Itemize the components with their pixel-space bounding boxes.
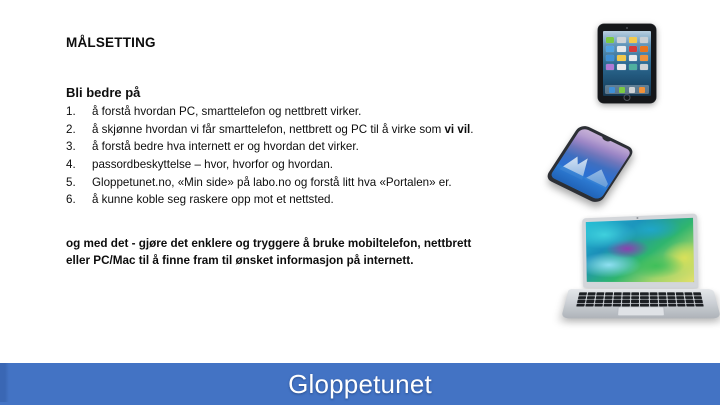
laptop-key [576, 303, 585, 306]
list-item-text-plain: å skjønne hvordan vi får smarttelefon, n… [92, 123, 444, 136]
list-item-number: 2. [66, 121, 92, 139]
list-item: 4. passordbeskyttelse – hvor, hvorfor og… [66, 156, 536, 174]
laptop-key [677, 303, 686, 306]
laptop-trackpad [617, 307, 665, 317]
laptop-key [686, 303, 695, 306]
laptop-key [658, 292, 666, 295]
list-item-number: 6. [66, 191, 92, 209]
list-item-text: å kunne koble seg raskere opp mot et net… [92, 191, 536, 209]
list-item-text: passordbeskyttelse – hvor, hvorfor og hv… [92, 156, 536, 174]
tablet-photo [598, 24, 656, 103]
laptop-key [577, 300, 586, 303]
list-item: 3. å forstå bedre hva internett er og hv… [66, 138, 536, 156]
laptop-key [668, 303, 676, 306]
closing-paragraph: og med det - gjøre det enklere og trygge… [66, 235, 536, 270]
laptop-key [667, 292, 675, 295]
tablet-dock [605, 85, 649, 94]
tablet-app-icon [617, 37, 625, 43]
laptop-key [596, 292, 604, 295]
laptop-key [684, 292, 692, 295]
laptop-key [649, 292, 657, 295]
list-item-number: 3. [66, 138, 92, 156]
list-item: 5. Gloppetunet.no, «Min side» på labo.no… [66, 174, 536, 192]
list-item-text: å skjønne hvordan vi får smarttelefon, n… [92, 121, 536, 139]
tablet-app-icon [617, 46, 625, 52]
laptop-key [658, 300, 666, 303]
tablet-app-icon [629, 55, 637, 61]
laptop-key [596, 296, 604, 299]
laptop-key [694, 300, 703, 303]
closing-line-1: og med det - gjøre det enklere og trygge… [66, 235, 536, 252]
tablet-dock-icon [639, 87, 645, 93]
tablet-dock-icon [629, 87, 635, 93]
laptop-key [614, 292, 622, 295]
tablet-app-grid [606, 37, 648, 70]
laptop-key [623, 292, 631, 295]
tablet-app-icon [640, 64, 648, 70]
list-item-text-tail: . [470, 123, 473, 136]
laptop-key [685, 296, 693, 299]
laptop-photo [565, 216, 717, 328]
laptop-key [595, 303, 604, 306]
laptop-key [676, 296, 684, 299]
list-item-number: 4. [66, 156, 92, 174]
presentation-slide: MÅLSETTING Bli bedre på 1. å forstå hvor… [0, 0, 720, 405]
laptop-key [640, 300, 648, 303]
footer-banner-label: Gloppetunet [288, 369, 432, 400]
page-title: MÅLSETTING [66, 36, 536, 51]
tablet-app-icon [606, 37, 614, 43]
tablet-dock-icon [619, 87, 625, 93]
laptop-key [649, 300, 657, 303]
smartphone-screen [549, 126, 631, 200]
laptop-key [613, 300, 621, 303]
laptop-key [579, 292, 587, 295]
list-item-number: 5. [66, 174, 92, 192]
tablet-app-icon [640, 46, 648, 52]
laptop-key [640, 296, 648, 299]
list-item-text: å forstå bedre hva internett er og hvord… [92, 138, 536, 156]
laptop-key [622, 300, 630, 303]
smartphone-photo [556, 129, 636, 201]
laptop-key [631, 300, 639, 303]
tablet-app-icon [606, 55, 614, 61]
laptop-key [649, 296, 657, 299]
laptop-key [578, 296, 587, 299]
tablet-app-icon [617, 64, 625, 70]
list-item-number: 1. [66, 103, 92, 121]
tablet-app-icon [606, 64, 614, 70]
laptop-key [632, 292, 640, 295]
laptop-key [693, 292, 701, 295]
list-item-text: Gloppetunet.no, «Min side» på labo.no og… [92, 174, 536, 192]
laptop-key [587, 296, 595, 299]
tablet-screen [603, 31, 651, 96]
tablet-app-icon [629, 46, 637, 52]
laptop-key [614, 296, 622, 299]
list-item: 6. å kunne koble seg raskere opp mot et … [66, 191, 536, 209]
tablet-app-icon [617, 55, 625, 61]
laptop-screen [586, 218, 694, 282]
footer-banner: Gloppetunet [0, 363, 720, 405]
laptop-key [694, 296, 703, 299]
laptop-key [695, 303, 704, 306]
tablet-app-icon [606, 46, 614, 52]
laptop-key [604, 303, 612, 306]
laptop-key [588, 292, 596, 295]
tablet-home-button-icon [624, 94, 631, 101]
list-item-text-bold: vi vil [444, 123, 470, 136]
laptop-key [676, 300, 684, 303]
tablet-app-icon [629, 64, 637, 70]
laptop-key [675, 292, 683, 295]
laptop-camera-icon [636, 217, 638, 219]
tablet-app-icon [640, 55, 648, 61]
laptop-key [604, 300, 612, 303]
laptop-key [623, 296, 631, 299]
laptop-key [667, 300, 675, 303]
closing-line-2: eller PC/Mac til å finne fram til ønsket… [66, 252, 536, 269]
laptop-lid [582, 213, 698, 288]
laptop-key [586, 300, 595, 303]
slide-text-body: MÅLSETTING Bli bedre på 1. å forstå hvor… [66, 36, 536, 269]
laptop-key [605, 292, 613, 295]
laptop-key [595, 300, 603, 303]
subheading: Bli bedre på [66, 85, 536, 101]
laptop-key [640, 292, 648, 295]
list-item: 1. å forstå hvordan PC, smarttelefon og … [66, 103, 536, 121]
laptop-key [632, 296, 640, 299]
laptop-key [667, 296, 675, 299]
laptop-keyboard [576, 292, 704, 306]
laptop-key [585, 303, 594, 306]
laptop-key [685, 300, 694, 303]
tablet-app-icon [640, 37, 648, 43]
list-item-text: å forstå hvordan PC, smarttelefon og net… [92, 103, 536, 121]
tablet-camera-icon [626, 27, 628, 29]
laptop-base [561, 289, 720, 318]
laptop-wallpaper [586, 218, 694, 282]
laptop-key [605, 296, 613, 299]
tablet-app-icon [629, 37, 637, 43]
smartphone-body [545, 123, 635, 205]
objectives-list: 1. å forstå hvordan PC, smarttelefon og … [66, 103, 536, 209]
tablet-dock-icon [609, 87, 615, 93]
list-item: 2. å skjønne hvordan vi får smarttelefon… [66, 121, 536, 139]
laptop-key [658, 296, 666, 299]
